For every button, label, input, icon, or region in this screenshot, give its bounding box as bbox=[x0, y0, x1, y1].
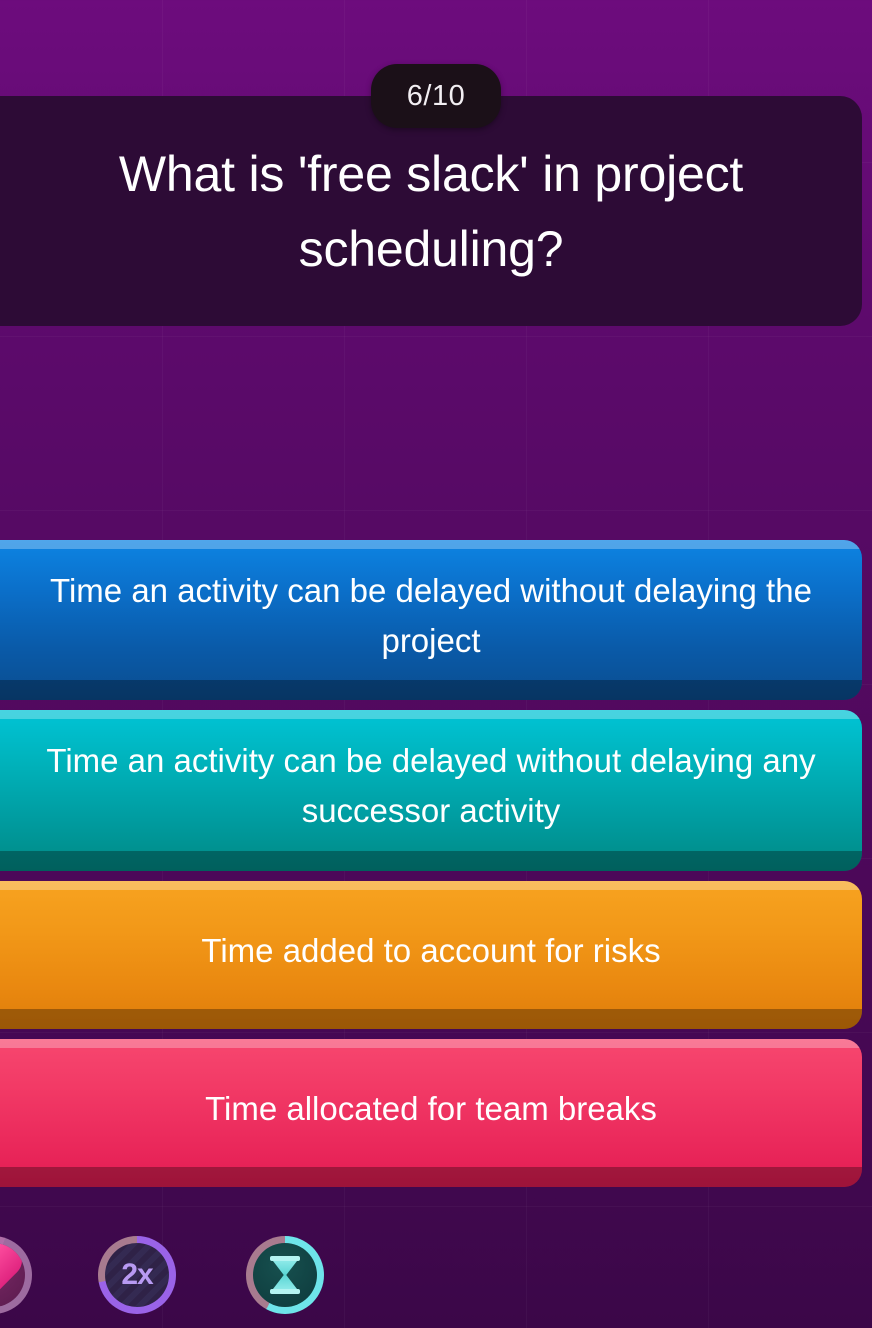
powerup-double-points-disc: 2x bbox=[105, 1243, 169, 1307]
answer-option-d[interactable]: Time allocated for team breaks bbox=[0, 1039, 862, 1187]
powerup-extra-time-button[interactable] bbox=[246, 1236, 324, 1314]
answer-option-b[interactable]: Time an activity can be delayed without … bbox=[0, 710, 862, 870]
question-card: What is 'free slack' in project scheduli… bbox=[0, 96, 862, 326]
answer-options-list: Time an activity can be delayed without … bbox=[0, 540, 862, 1187]
powerup-hearts-button[interactable] bbox=[0, 1236, 32, 1314]
answer-option-d-label: Time allocated for team breaks bbox=[38, 1084, 824, 1134]
question-text: What is 'free slack' in project scheduli… bbox=[26, 137, 836, 287]
progress-badge: 6/10 bbox=[371, 64, 501, 128]
progress-label: 6/10 bbox=[407, 80, 465, 113]
answer-option-c-label: Time added to account for risks bbox=[38, 926, 824, 976]
powerup-extra-time-disc bbox=[253, 1243, 317, 1307]
quiz-screen: 6/10 What is 'free slack' in project sch… bbox=[0, 0, 872, 1328]
answer-option-a[interactable]: Time an activity can be delayed without … bbox=[0, 540, 862, 700]
answer-option-c[interactable]: Time added to account for risks bbox=[0, 881, 862, 1029]
hourglass-icon bbox=[270, 1256, 300, 1294]
heart-icon bbox=[0, 1248, 17, 1296]
powerups-bar: 2x bbox=[0, 1236, 872, 1328]
answer-option-b-label: Time an activity can be delayed without … bbox=[38, 736, 824, 836]
2x-multiplier-icon: 2x bbox=[121, 1260, 152, 1290]
answer-option-a-label: Time an activity can be delayed without … bbox=[38, 566, 824, 666]
powerup-double-points-button[interactable]: 2x bbox=[98, 1236, 176, 1314]
